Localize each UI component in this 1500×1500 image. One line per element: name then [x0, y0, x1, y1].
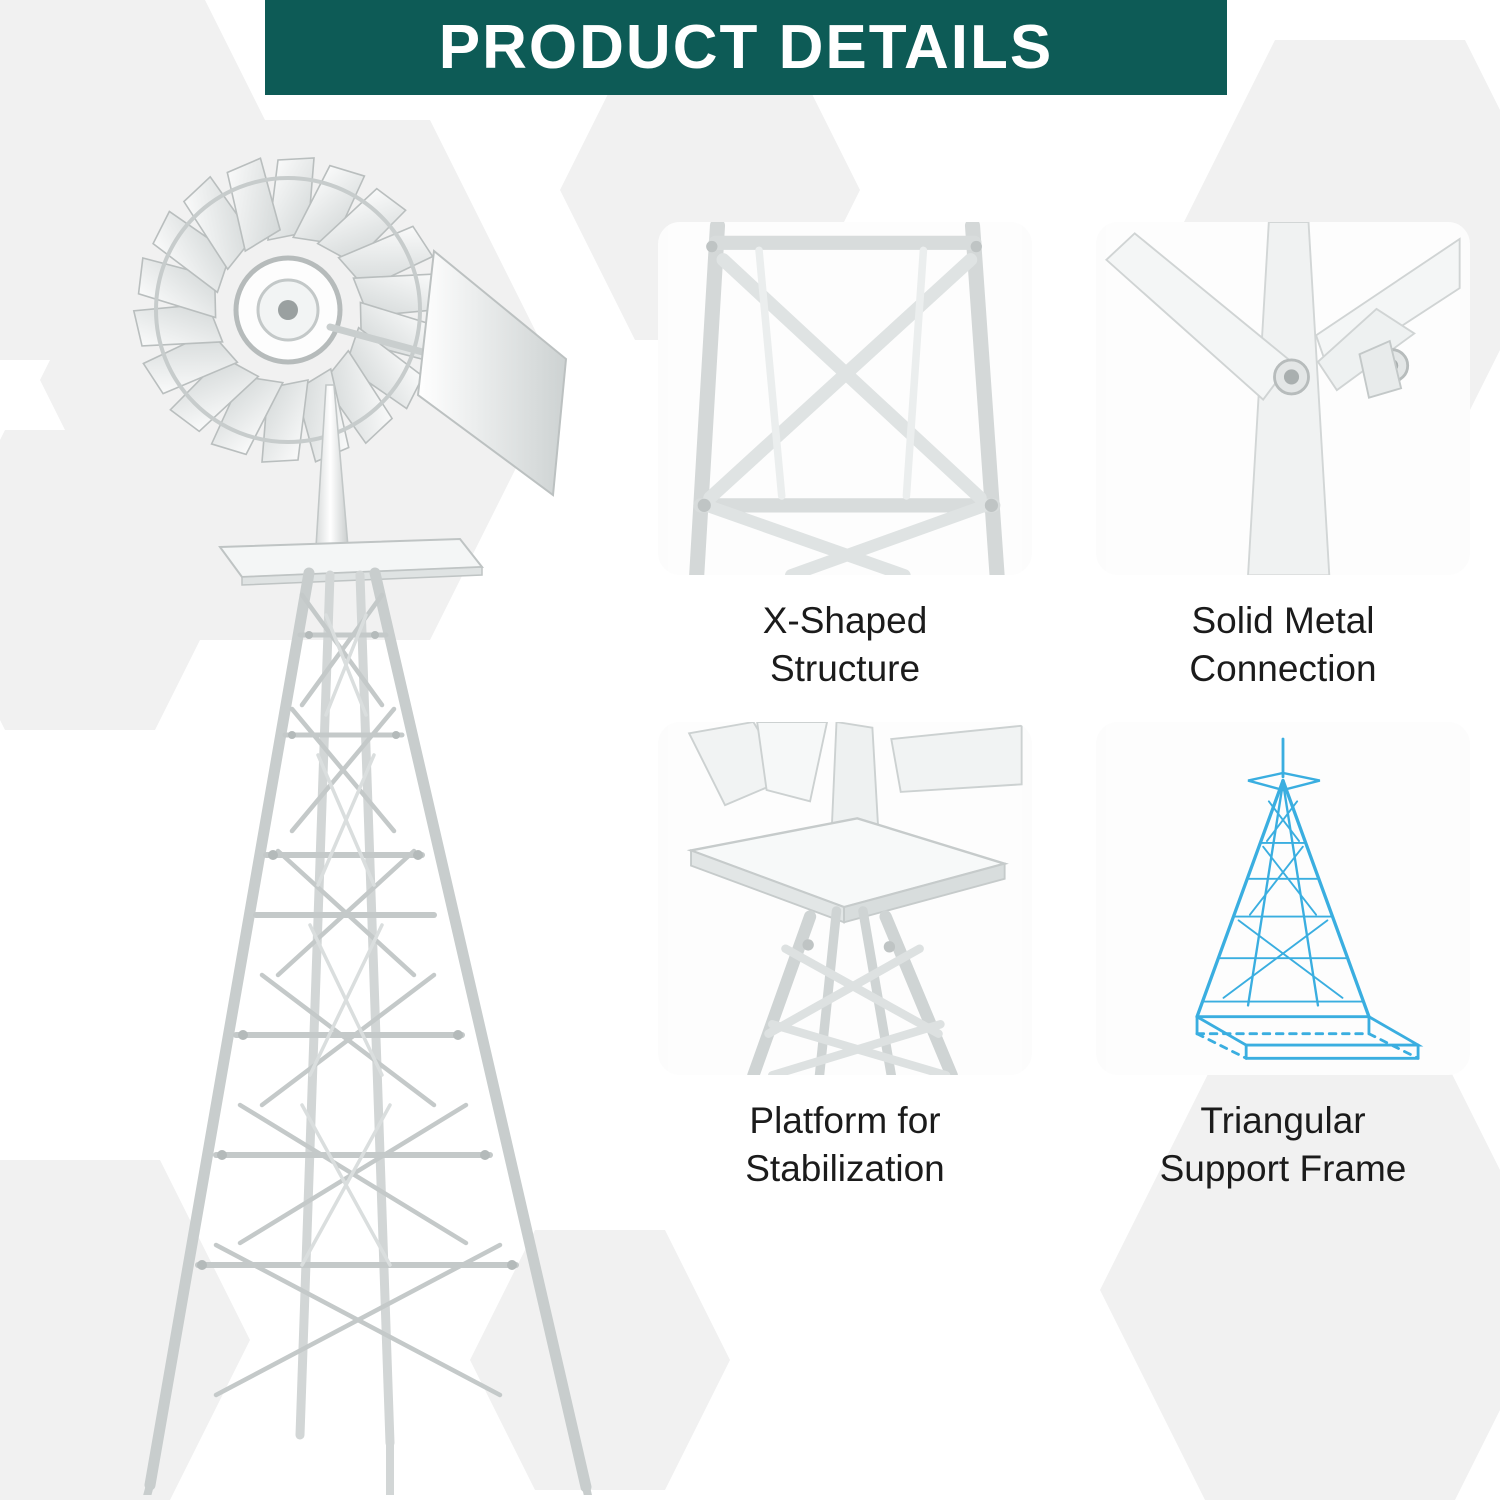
feature-card-triangular-support-frame: Triangular Support Frame: [1096, 722, 1470, 1192]
feature-caption-line2: Support Frame: [1096, 1145, 1470, 1192]
tower-lattice: [142, 573, 592, 1495]
feature-caption-line2: Connection: [1096, 645, 1470, 692]
feature-caption: Platform for Stabilization: [658, 1097, 1032, 1192]
feature-caption-line1: X-Shaped: [763, 600, 928, 641]
page-title-banner: PRODUCT DETAILS: [265, 0, 1227, 95]
x-shaped-structure-closeup: [658, 222, 1032, 575]
feature-caption-line1: Triangular: [1200, 1100, 1365, 1141]
platform-for-stabilization-closeup: [658, 722, 1032, 1075]
stabilization-platform: [220, 539, 482, 585]
product-details-page: PRODUCT DETAILS: [0, 0, 1500, 1500]
hero-product-image: [30, 95, 650, 1495]
triangular-support-frame-diagram: [1096, 722, 1470, 1075]
feature-card-x-shaped-structure: X-Shaped Structure: [658, 222, 1032, 692]
feature-card-solid-metal-connection: Solid Metal Connection: [1096, 222, 1470, 692]
feature-caption-line2: Stabilization: [658, 1145, 1032, 1192]
feature-caption-line1: Platform for: [749, 1100, 940, 1141]
solid-metal-connection-closeup: [1096, 222, 1470, 575]
bolt: [1274, 360, 1308, 394]
feature-caption: Solid Metal Connection: [1096, 597, 1470, 692]
feature-grid: X-Shaped Structure: [658, 222, 1470, 1402]
feature-caption: X-Shaped Structure: [658, 597, 1032, 692]
windmill-fan-head: [134, 158, 442, 462]
feature-caption: Triangular Support Frame: [1096, 1097, 1470, 1192]
feature-card-platform-for-stabilization: Platform for Stabilization: [658, 722, 1032, 1192]
feature-caption-line1: Solid Metal: [1191, 600, 1374, 641]
feature-caption-line2: Structure: [658, 645, 1032, 692]
page-title: PRODUCT DETAILS: [439, 17, 1053, 79]
